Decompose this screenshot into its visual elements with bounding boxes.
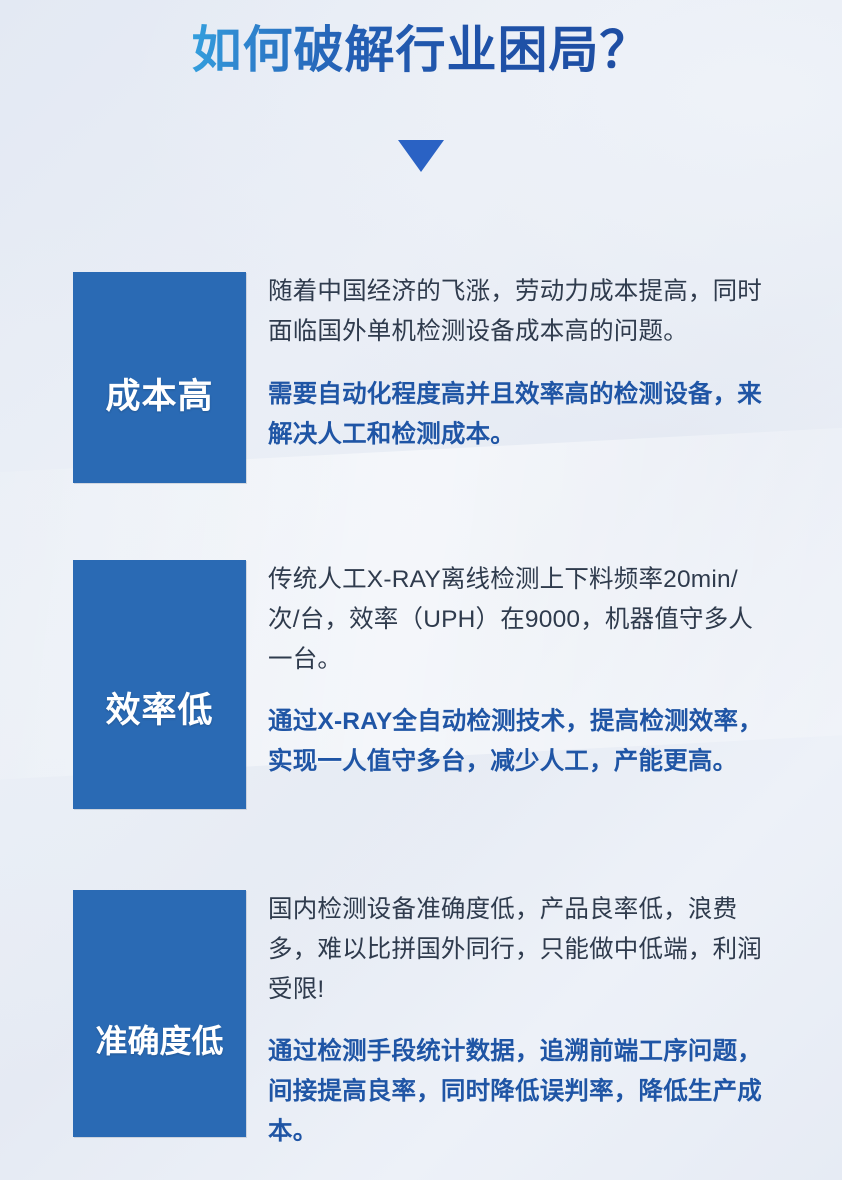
text-column-accuracy: 国内检测设备准确度低，产品良率低，浪费多，难以比拼国外同行，只能做中低端，利润受… (246, 890, 768, 1152)
page-title-row: 如何破解行业困局？ (0, 22, 842, 80)
solution-text-accuracy: 通过检测手段统计数据，追溯前端工序问题，间接提高良率，同时降低误判率，降低生产成… (268, 1032, 768, 1152)
problem-block-accuracy: 准确度低 国内检测设备准确度低，产品良率低，浪费多，难以比拼国外同行，只能做中低… (73, 890, 768, 1152)
tag-box-accuracy: 准确度低 (73, 890, 246, 1137)
triangle-down-icon (398, 140, 444, 172)
problem-text-accuracy: 国内检测设备准确度低，产品良率低，浪费多，难以比拼国外同行，只能做中低端，利润受… (268, 890, 768, 1010)
infographic-page: 如何破解行业困局？ 成本高 随着中国经济的飞涨，劳动力成本提高，同时面临国外单机… (0, 0, 842, 1180)
problem-text-cost: 随着中国经济的飞涨，劳动力成本提高，同时面临国外单机检测设备成本高的问题。 (268, 272, 768, 352)
tag-label-efficiency: 效率低 (73, 682, 246, 733)
text-column-cost: 随着中国经济的飞涨，劳动力成本提高，同时面临国外单机检测设备成本高的问题。 需要… (246, 272, 768, 455)
tag-box-efficiency: 效率低 (73, 560, 246, 809)
problem-block-cost: 成本高 随着中国经济的飞涨，劳动力成本提高，同时面临国外单机检测设备成本高的问题… (73, 272, 768, 483)
solution-text-cost: 需要自动化程度高并且效率高的检测设备，来解决人工和检测成本。 (268, 375, 768, 455)
solution-text-efficiency: 通过X-RAY全自动检测技术，提高检测效率，实现一人值守多台，减少人工，产能更高… (268, 702, 768, 782)
arrow-row (0, 140, 842, 177)
problem-block-efficiency: 效率低 传统人工X-RAY离线检测上下料频率20min/次/台，效率（UPH）在… (73, 560, 768, 809)
tag-label-cost: 成本高 (73, 368, 246, 419)
problem-text-efficiency: 传统人工X-RAY离线检测上下料频率20min/次/台，效率（UPH）在9000… (268, 560, 768, 680)
tag-label-accuracy: 准确度低 (73, 1016, 246, 1062)
text-column-efficiency: 传统人工X-RAY离线检测上下料频率20min/次/台，效率（UPH）在9000… (246, 560, 768, 782)
page-title: 如何破解行业困局？ (192, 22, 651, 80)
tag-box-cost: 成本高 (73, 272, 246, 483)
